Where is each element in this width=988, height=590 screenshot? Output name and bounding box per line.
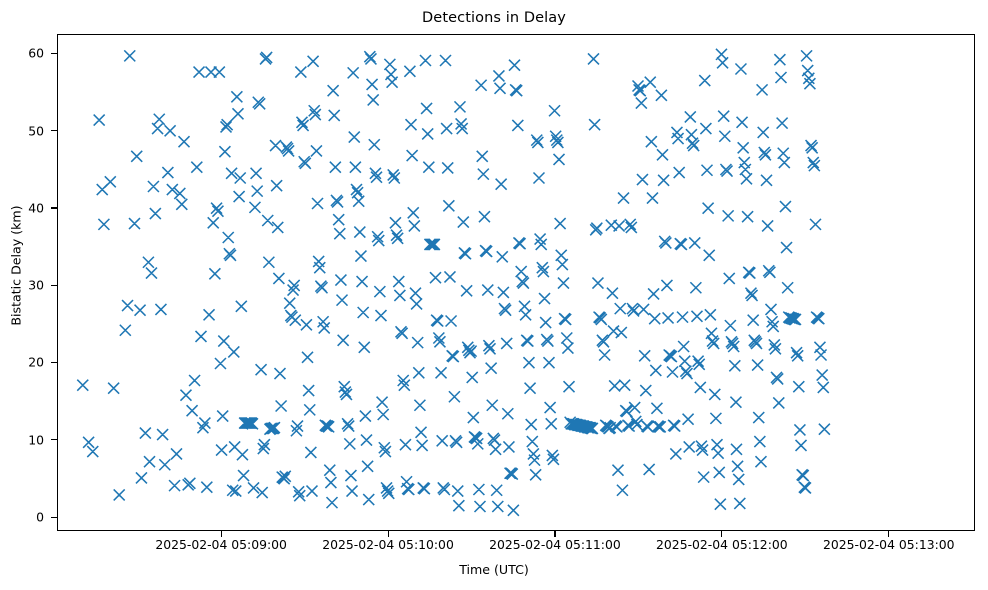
- y-tick-mark: [51, 517, 57, 518]
- x-tick-label: 2025-02-04 05:10:00: [322, 537, 454, 552]
- y-tick-label: 0: [0, 510, 44, 525]
- x-tick-label: 2025-02-04 05:11:00: [489, 537, 621, 552]
- y-tick-mark: [51, 53, 57, 54]
- page-title: Detections in Delay: [0, 10, 988, 26]
- plot-area: [57, 34, 975, 531]
- y-tick-label: 60: [0, 46, 44, 61]
- y-tick-label: 50: [0, 123, 44, 138]
- y-tick-mark: [51, 207, 57, 208]
- x-tick-label: 2025-02-04 05:12:00: [656, 537, 788, 552]
- y-tick-mark: [51, 439, 57, 440]
- scatter-series: [58, 35, 975, 531]
- y-tick-label: 10: [0, 432, 44, 447]
- x-tick-label: 2025-02-04 05:13:00: [823, 537, 955, 552]
- y-tick-mark: [51, 130, 57, 131]
- y-tick-mark: [51, 362, 57, 363]
- scatter-chart-figure: Detections in Delay 0102030405060 2025-0…: [0, 0, 988, 590]
- x-axis-label: Time (UTC): [0, 562, 988, 577]
- scatter-points: [77, 49, 830, 516]
- y-axis-label: Bistatic Delay (km): [9, 166, 24, 366]
- x-tick-label: 2025-02-04 05:09:00: [155, 537, 287, 552]
- y-tick-mark: [51, 285, 57, 286]
